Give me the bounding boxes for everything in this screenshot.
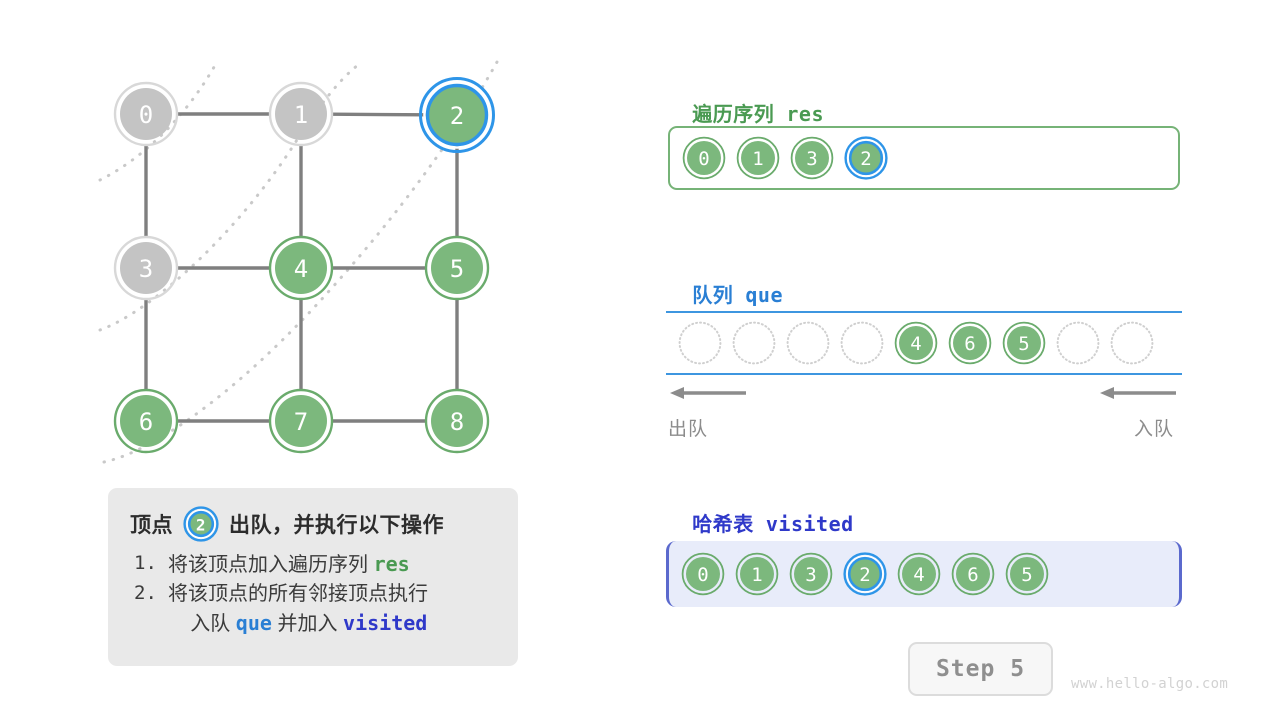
visited-cell[interactable]: 3 (789, 552, 833, 596)
caption-head-suffix: 出队，并执行以下操作 (229, 509, 444, 539)
value-chip-circle: 5 (1005, 552, 1049, 596)
caption-step-item: 1.将该顶点加入遍历序列 res (130, 550, 498, 579)
visited-cell[interactable]: 4 (897, 552, 941, 596)
chip-label: 1 (752, 148, 763, 170)
enqueue-direction: 入队 (1078, 383, 1178, 441)
dequeue-direction: 出队 (668, 383, 748, 441)
caption-step-item: 2.将该顶点的所有邻接顶点执行 入队 que 并加入 visited (130, 580, 498, 638)
queue-container: 465 (666, 311, 1182, 375)
graph-node-5[interactable]: 5 (426, 237, 488, 299)
chip-label: 2 (859, 564, 870, 586)
chip-label: 3 (805, 564, 816, 586)
queue-slot[interactable] (1056, 321, 1100, 365)
visited-hashset-container: 0132465 (666, 541, 1182, 607)
chip-label: 4 (910, 333, 921, 355)
graph-node-label: 6 (139, 408, 153, 436)
caption-code-que: que (236, 611, 272, 635)
graph-edge (331, 114, 427, 115)
graph-node-0[interactable]: 0 (115, 83, 177, 145)
queue-slot[interactable]: 6 (948, 321, 992, 365)
empty-slot-circle (732, 321, 776, 365)
enqueue-label: 入队 (1078, 414, 1178, 441)
step-badge: Step 5 (908, 642, 1053, 696)
graph-node-1[interactable]: 1 (270, 83, 332, 145)
res-cell[interactable]: 3 (790, 136, 834, 180)
visited-title-cn: 哈希表 (692, 514, 754, 536)
graph-node-2[interactable]: 2 (421, 79, 494, 152)
value-chip-circle: 4 (894, 321, 938, 365)
caption-text: 并加入 (272, 613, 343, 635)
watermark: www.hello-algo.com (1071, 676, 1228, 692)
arrow-right-icon (1078, 383, 1178, 403)
value-chip-circle: 6 (948, 321, 992, 365)
empty-slot-circle (786, 321, 830, 365)
chip-label: 6 (964, 333, 975, 355)
chip-label: 5 (1021, 564, 1032, 586)
queue-slot[interactable] (1110, 321, 1154, 365)
queue-slot[interactable] (732, 321, 776, 365)
graph-node-label: 3 (139, 255, 153, 283)
chip-label: 2 (860, 148, 871, 170)
visited-cell[interactable]: 5 (1005, 552, 1049, 596)
value-chip-circle: 4 (897, 552, 941, 596)
graph-node-label: 2 (450, 102, 464, 130)
res-cell[interactable]: 1 (736, 136, 780, 180)
caption-step-number: 2. (134, 580, 157, 607)
value-chip-circle: 1 (735, 552, 779, 596)
queue-slot[interactable]: 5 (1002, 321, 1046, 365)
value-chip-circle: 6 (951, 552, 995, 596)
graph-node-label: 0 (139, 101, 153, 129)
res-cell[interactable]: 2 (844, 136, 888, 180)
operation-caption-box: 顶点 2 出队，并执行以下操作 1.将该顶点加入遍历序列 res2.将该顶点的所… (108, 488, 518, 666)
graph-node-7[interactable]: 7 (270, 390, 332, 452)
value-chip-circle: 1 (736, 136, 780, 180)
que-title-cn: 队列 (692, 285, 733, 307)
step-label: Step 5 (936, 656, 1025, 682)
caption-step-number: 1. (134, 550, 157, 577)
graph-node-6[interactable]: 6 (115, 390, 177, 452)
visited-cell-row: 0132465 (669, 541, 1059, 607)
visited-cell[interactable]: 1 (735, 552, 779, 596)
graph-node-label: 1 (294, 101, 308, 129)
empty-slot-circle (1110, 321, 1154, 365)
queue-slot[interactable] (678, 321, 722, 365)
value-chip-circle: 0 (681, 552, 725, 596)
res-cell[interactable]: 0 (682, 136, 726, 180)
caption-code-res: res (374, 552, 410, 576)
empty-slot-circle (840, 321, 884, 365)
graph-canvas: 012345678 (0, 0, 620, 480)
dequeue-label: 出队 (668, 414, 748, 441)
chip-label: 6 (967, 564, 978, 586)
res-cell-row: 0132 (670, 128, 898, 188)
empty-slot-circle (678, 321, 722, 365)
res-title-code: res (786, 102, 824, 126)
chip-label: 4 (913, 564, 924, 586)
que-title-code: que (745, 283, 783, 307)
visited-cell[interactable]: 0 (681, 552, 725, 596)
value-chip-circle: 0 (682, 136, 726, 180)
value-chip-circle: 2 (843, 552, 887, 596)
caption-head-prefix: 顶点 (130, 509, 173, 539)
visited-title-code: visited (766, 512, 854, 536)
graph-node-4[interactable]: 4 (270, 237, 332, 299)
queue-slot[interactable]: 4 (894, 321, 938, 365)
visited-cell[interactable]: 6 (951, 552, 995, 596)
res-array-container: 0132 (668, 126, 1180, 190)
visited-cell[interactable]: 2 (843, 552, 887, 596)
graph-node-3[interactable]: 3 (115, 237, 177, 299)
value-chip-circle: 3 (790, 136, 834, 180)
queue-slot[interactable] (840, 321, 884, 365)
caption-step-list: 1.将该顶点加入遍历序列 res2.将该顶点的所有邻接顶点执行 入队 que 并… (130, 550, 498, 638)
empty-slot-circle (1056, 321, 1100, 365)
value-chip-circle: 5 (1002, 321, 1046, 365)
graph-node-label: 8 (450, 408, 464, 436)
arrow-left-icon (668, 383, 748, 403)
chip-label: 1 (751, 564, 762, 586)
caption-code-vis: visited (343, 611, 427, 635)
state-panel: 遍历序列 res 0132 队列 que 465 出队 入队 哈希表 visit… (620, 0, 1280, 720)
chip-label: 0 (698, 148, 709, 170)
res-title-cn: 遍历序列 (692, 104, 774, 126)
caption-text: 将该顶点加入遍历序列 (168, 554, 374, 576)
caption-headline: 顶点 2 出队，并执行以下操作 (130, 504, 498, 544)
queue-slot[interactable] (786, 321, 830, 365)
graph-node-8[interactable]: 8 (426, 390, 488, 452)
chip-label: 2 (196, 516, 206, 535)
chip-label: 3 (806, 148, 817, 170)
queue-cell-row: 465 (666, 313, 1164, 373)
graph-node-label: 4 (294, 255, 308, 283)
caption-vertex-chip: 2 (183, 506, 219, 542)
value-chip-circle: 3 (789, 552, 833, 596)
chip-label: 0 (697, 564, 708, 586)
value-chip-circle: 2 (844, 136, 888, 180)
queue-direction-row: 出队 入队 (666, 383, 1182, 435)
graph-node-label: 7 (294, 408, 308, 436)
graph-node-label: 5 (450, 255, 464, 283)
value-chip-circle: 2 (183, 506, 219, 542)
chip-label: 5 (1018, 333, 1029, 355)
